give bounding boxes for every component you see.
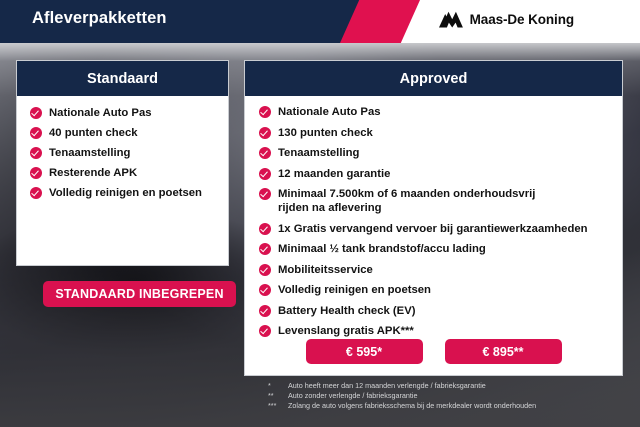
check-circle-icon: [30, 107, 42, 119]
footnotes: * Auto heeft meer dan 12 maanden verleng…: [268, 381, 628, 410]
list-item: Nationale Auto Pas: [259, 105, 608, 119]
footnote-marker: **: [268, 391, 288, 401]
footnote-marker: *: [268, 381, 288, 391]
approved-feature-list: Nationale Auto Pas 130 punten check Tena…: [259, 105, 608, 338]
feature-label: Tenaamstelling: [278, 146, 359, 160]
footnote-text: Auto heeft meer dan 12 maanden verlengde…: [288, 381, 628, 391]
check-circle-icon: [259, 127, 271, 139]
check-circle-icon: [30, 147, 42, 159]
feature-label: Tenaamstelling: [49, 146, 130, 160]
feature-label: Mobiliteitsservice: [278, 263, 373, 277]
price-button-group: € 595* € 895**: [244, 339, 623, 364]
feature-label: Volledig reinigen en poetsen: [278, 283, 431, 297]
footnote-single-asterisk: * Auto heeft meer dan 12 maanden verleng…: [268, 381, 628, 391]
check-circle-icon: [259, 305, 271, 317]
footnote-double-asterisk: ** Auto zonder verlengde / fabrieksgaran…: [268, 391, 628, 401]
list-item: Mobiliteitsservice: [259, 263, 608, 277]
check-circle-icon: [30, 127, 42, 139]
list-item: 40 punten check: [30, 126, 215, 140]
list-item: 12 maanden garantie: [259, 167, 608, 181]
maas-de-koning-m-mark-icon: [439, 11, 463, 28]
check-circle-icon: [259, 284, 271, 296]
list-item: Levenslang gratis APK***: [259, 324, 608, 338]
feature-label: 130 punten check: [278, 126, 373, 140]
list-item: Minimaal 7.500km of 6 maanden onderhouds…: [259, 187, 608, 215]
standaard-card-title: Standaard: [17, 61, 228, 96]
footnote-triple-asterisk: *** Zolang de auto volgens fabrieksschem…: [268, 401, 628, 411]
check-circle-icon: [30, 167, 42, 179]
footnote-text: Auto zonder verlengde / fabrieksgarantie: [288, 391, 628, 401]
afleverpakketten-poster: Afleverpakketten Maas-De Koning Standaar…: [0, 0, 640, 427]
check-circle-icon: [259, 168, 271, 180]
check-circle-icon: [259, 223, 271, 235]
approved-package-card: Approved Nationale Auto Pas 130 punten c…: [244, 60, 623, 376]
list-item: 130 punten check: [259, 126, 608, 140]
feature-label: 12 maanden garantie: [278, 167, 390, 181]
feature-label: Volledig reinigen en poetsen: [49, 186, 202, 200]
check-circle-icon: [30, 187, 42, 199]
list-item: Volledig reinigen en poetsen: [259, 283, 608, 297]
approved-card-title: Approved: [245, 61, 622, 96]
feature-label-continuation: rijden na aflevering: [278, 201, 535, 215]
list-item: Volledig reinigen en poetsen: [30, 186, 215, 200]
brand-name-label: Maas-De Koning: [470, 12, 574, 27]
check-circle-icon: [259, 243, 271, 255]
check-circle-icon: [259, 325, 271, 337]
feature-label: 1x Gratis vervangend vervoer bij garanti…: [278, 222, 588, 236]
footnote-marker: ***: [268, 401, 288, 411]
check-circle-icon: [259, 264, 271, 276]
standaard-package-card: Standaard Nationale Auto Pas 40 punten c…: [16, 60, 229, 266]
price-button-595[interactable]: € 595*: [306, 339, 423, 364]
feature-label: 40 punten check: [49, 126, 138, 140]
list-item: Nationale Auto Pas: [30, 106, 215, 120]
check-circle-icon: [259, 106, 271, 118]
page-title: Afleverpakketten: [32, 9, 167, 28]
check-circle-icon: [259, 188, 271, 200]
check-circle-icon: [259, 147, 271, 159]
price-button-895[interactable]: € 895**: [445, 339, 562, 364]
feature-label: Nationale Auto Pas: [278, 105, 381, 119]
page-header: Afleverpakketten Maas-De Koning: [0, 0, 640, 43]
list-item: Minimaal ½ tank brandstof/accu lading: [259, 242, 608, 256]
feature-label: Nationale Auto Pas: [49, 106, 152, 120]
feature-label: Resterende APK: [49, 166, 137, 180]
list-item: 1x Gratis vervangend vervoer bij garanti…: [259, 222, 608, 236]
feature-label: Minimaal ½ tank brandstof/accu lading: [278, 242, 486, 256]
feature-label: Levenslang gratis APK***: [278, 324, 414, 338]
approved-card-body: Nationale Auto Pas 130 punten check Tena…: [245, 96, 622, 338]
feature-label: Battery Health check (EV): [278, 304, 416, 318]
standaard-inbegrepen-button[interactable]: STANDAARD INBEGREPEN: [43, 281, 236, 307]
list-item: Tenaamstelling: [259, 146, 608, 160]
standaard-card-body: Nationale Auto Pas 40 punten check Tenaa…: [17, 96, 228, 200]
footnote-text: Zolang de auto volgens fabrieksschema bi…: [288, 401, 628, 411]
list-item: Battery Health check (EV): [259, 304, 608, 318]
feature-label: Minimaal 7.500km of 6 maanden onderhouds…: [278, 187, 535, 215]
standaard-feature-list: Nationale Auto Pas 40 punten check Tenaa…: [30, 106, 215, 200]
list-item: Resterende APK: [30, 166, 215, 180]
list-item: Tenaamstelling: [30, 146, 215, 160]
brand-logo: Maas-De Koning: [439, 11, 574, 28]
